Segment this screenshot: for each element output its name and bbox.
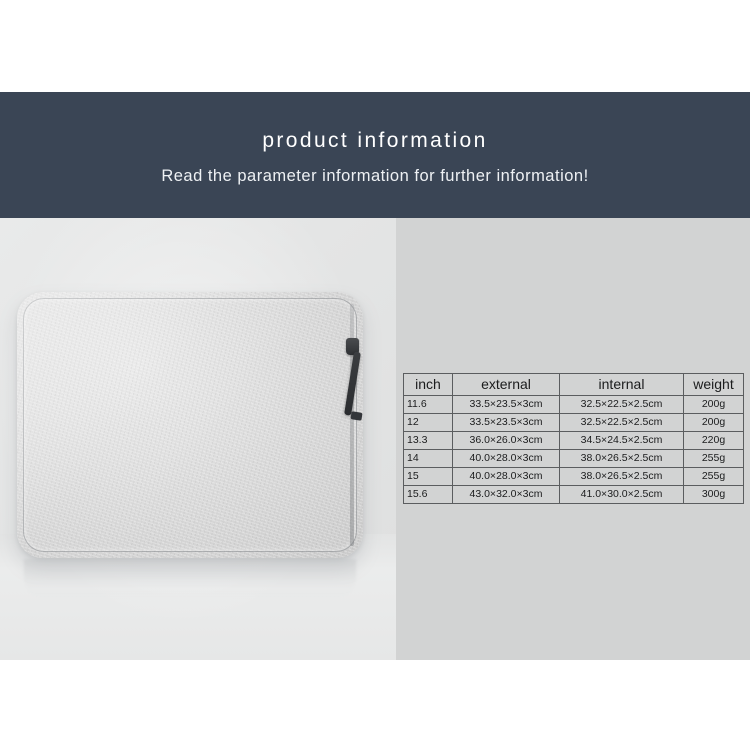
table-header-row: inch external internal weight <box>404 374 744 396</box>
cell-inch: 12 <box>404 414 453 432</box>
product-photo-panel <box>0 218 396 660</box>
table-row: 12 33.5×23.5×3cm 32.5×22.5×2.5cm 200g <box>404 414 744 432</box>
cell-inch: 11.6 <box>404 396 453 414</box>
cell-inch: 15 <box>404 468 453 486</box>
laptop-sleeve-product-image <box>17 292 363 558</box>
cell-external: 40.0×28.0×3cm <box>453 468 560 486</box>
table-row: 11.6 33.5×23.5×3cm 32.5×22.5×2.5cm 200g <box>404 396 744 414</box>
specification-table: inch external internal weight 11.6 33.5×… <box>403 373 744 504</box>
table-row: 15.6 43.0×32.0×3cm 41.0×30.0×2.5cm 300g <box>404 486 744 504</box>
bottom-whitespace <box>0 660 750 750</box>
cell-weight: 200g <box>684 414 744 432</box>
top-whitespace <box>0 0 750 92</box>
cell-internal: 41.0×30.0×2.5cm <box>560 486 684 504</box>
sleeve-piped-edge <box>23 298 357 552</box>
cell-weight: 200g <box>684 396 744 414</box>
cell-weight: 255g <box>684 468 744 486</box>
cell-internal: 34.5×24.5×2.5cm <box>560 432 684 450</box>
cell-external: 33.5×23.5×3cm <box>453 414 560 432</box>
specification-panel: inch external internal weight 11.6 33.5×… <box>396 218 750 660</box>
cell-external: 40.0×28.0×3cm <box>453 450 560 468</box>
cell-internal: 38.0×26.5×2.5cm <box>560 450 684 468</box>
cell-inch: 15.6 <box>404 486 453 504</box>
column-header-weight: weight <box>684 374 744 396</box>
table-row: 13.3 36.0×26.0×3cm 34.5×24.5×2.5cm 220g <box>404 432 744 450</box>
cell-external: 33.5×23.5×3cm <box>453 396 560 414</box>
column-header-external: external <box>453 374 560 396</box>
cell-inch: 14 <box>404 450 453 468</box>
page-subtitle: Read the parameter information for furth… <box>161 167 588 187</box>
cell-internal: 32.5×22.5×2.5cm <box>560 396 684 414</box>
cell-internal: 32.5×22.5×2.5cm <box>560 414 684 432</box>
page-title: product information <box>262 128 487 153</box>
table-row: 14 40.0×28.0×3cm 38.0×26.5×2.5cm 255g <box>404 450 744 468</box>
zipper-pull-tip-icon <box>350 411 362 421</box>
column-header-inch: inch <box>404 374 453 396</box>
product-information-banner: product information Read the parameter i… <box>0 92 750 218</box>
cell-inch: 13.3 <box>404 432 453 450</box>
cell-weight: 220g <box>684 432 744 450</box>
cell-internal: 38.0×26.5×2.5cm <box>560 468 684 486</box>
table-row: 15 40.0×28.0×3cm 38.0×26.5×2.5cm 255g <box>404 468 744 486</box>
cell-external: 36.0×26.0×3cm <box>453 432 560 450</box>
content-area: inch external internal weight 11.6 33.5×… <box>0 218 750 660</box>
cell-weight: 255g <box>684 450 744 468</box>
cell-external: 43.0×32.0×3cm <box>453 486 560 504</box>
product-information-page: product information Read the parameter i… <box>0 0 750 750</box>
column-header-internal: internal <box>560 374 684 396</box>
cell-weight: 300g <box>684 486 744 504</box>
